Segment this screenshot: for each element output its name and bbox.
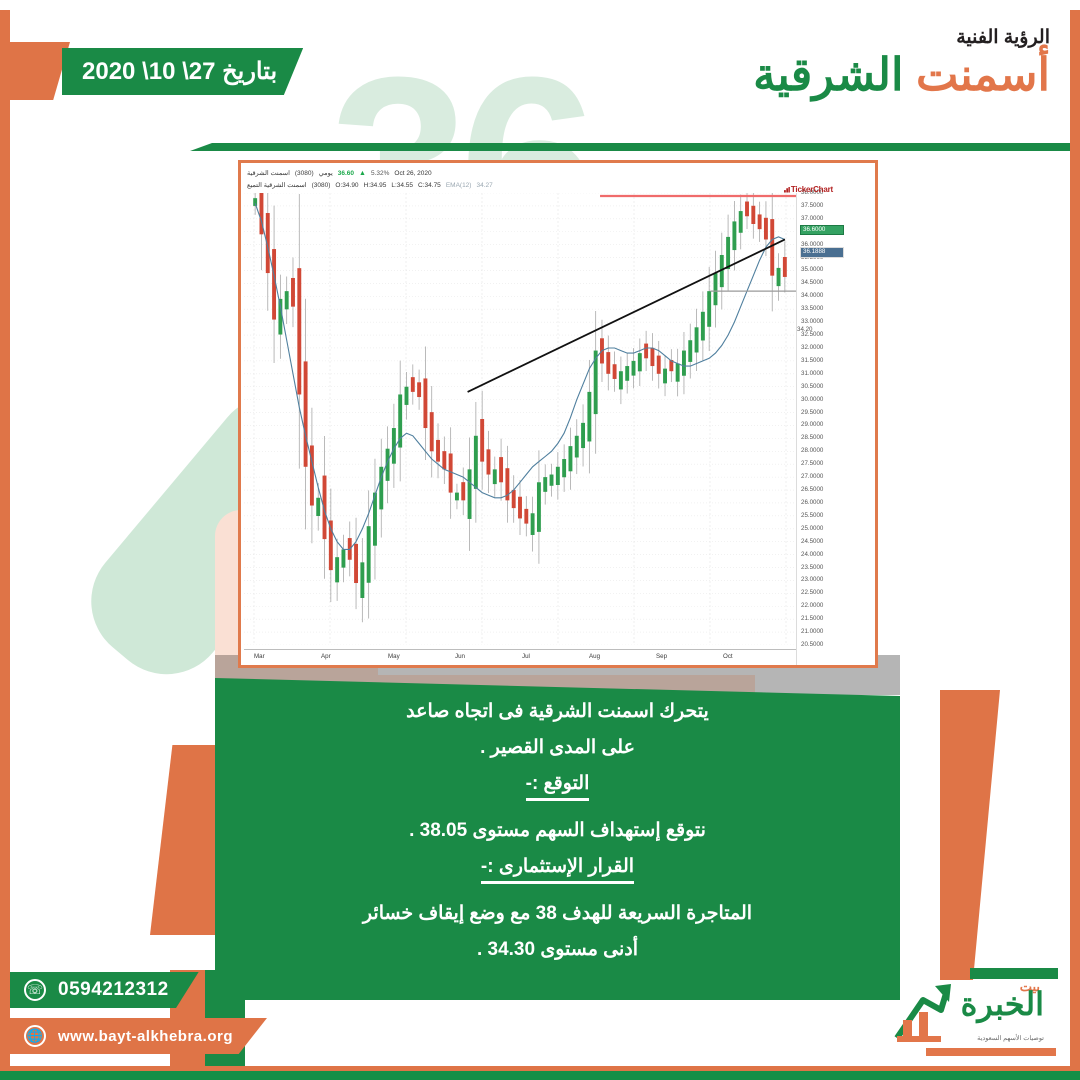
candle-body: [764, 218, 768, 240]
whatsapp-icon: ☏: [24, 979, 46, 1001]
y-axis-tick: 30.0000: [801, 397, 823, 403]
candle-body: [550, 475, 554, 486]
candle-body: [556, 467, 560, 485]
candle-body: [732, 221, 736, 250]
candle-body: [537, 482, 541, 532]
candle-body: [398, 394, 402, 447]
candle-body: [751, 206, 755, 224]
y-axis-tick: 26.5000: [801, 487, 823, 493]
x-axis-tick: Jun: [455, 653, 465, 660]
chart-ema-value: 34.27: [476, 182, 492, 189]
forecast-heading-wrap: التوقع :-: [261, 774, 854, 807]
chart-symbol-code: (3080): [295, 170, 314, 177]
y-axis-tick: 20.5000: [801, 642, 823, 648]
candle-body: [455, 493, 459, 501]
y-axis-tick: 33.0000: [801, 319, 823, 325]
candle-body: [625, 366, 629, 381]
y-axis-tick: 37.5000: [801, 203, 823, 209]
footer-website[interactable]: 🌐 www.bayt-alkhebra.org: [10, 1018, 267, 1054]
candle-body: [695, 327, 699, 352]
y-axis-tick: 34.5000: [801, 280, 823, 286]
candle-body: [758, 214, 762, 229]
candle-body: [707, 291, 711, 327]
y-axis-tick: 25.5000: [801, 513, 823, 519]
analysis-orange-wedge-right: [940, 690, 1000, 980]
chart-symbol-name-ar: اسمنت الشرقية: [247, 169, 290, 177]
analysis-panel: يتحرك اسمنت الشرقية فى اتجاه صاعد على ال…: [215, 678, 900, 1000]
y-axis-tick: 23.0000: [801, 577, 823, 583]
header-divider: [190, 143, 1070, 151]
header-kicker: الرؤية الفنية: [753, 28, 1050, 49]
chart-y-axis: 38.000037.500037.000036.500036.000035.50…: [796, 193, 872, 665]
tickerchart-logo: TickerChart: [784, 185, 833, 194]
y-axis-tick: 31.5000: [801, 358, 823, 364]
arrow-up-icon: ▲: [359, 170, 366, 177]
candle-body: [581, 423, 585, 448]
candle-body: [777, 268, 781, 286]
y-axis-tick: 27.5000: [801, 461, 823, 467]
chart-card: اسمنت الشرقية (3080) يومي 36.60 ▲ 5.32% …: [238, 160, 878, 668]
y-axis-tick: 28.0000: [801, 448, 823, 454]
candle-body: [518, 497, 522, 519]
x-axis-tick: Oct: [723, 653, 733, 660]
forecast-heading: التوقع :-: [526, 774, 590, 801]
page-title-part-orange: أسمنت: [916, 49, 1050, 100]
chart-header-line-1: اسمنت الشرقية (3080) يومي 36.60 ▲ 5.32% …: [247, 167, 869, 179]
candle-body: [468, 469, 472, 519]
chart-x-axis: MarAprMayJunJulAugSepOct: [244, 649, 796, 665]
chart-open-value: O:34.90: [335, 182, 358, 189]
candle-body: [613, 364, 617, 379]
candle-body: [606, 352, 610, 374]
candle-body: [638, 353, 642, 371]
chart-header-line-2: اسمنت الشرقية التميع (3080) O:34.90 H:34…: [247, 179, 869, 191]
brand-logo: بيت الخبرة توصيات الأسهم السعودية: [883, 966, 1058, 1058]
candle-body: [367, 526, 371, 583]
candle-body: [714, 273, 718, 305]
candle-body: [474, 436, 478, 489]
candle-body: [650, 348, 654, 366]
chart-header: اسمنت الشرقية (3080) يومي 36.60 ▲ 5.32% …: [241, 163, 875, 193]
y-axis-tick: 33.5000: [801, 306, 823, 312]
chart-interval-label: يومي: [319, 169, 333, 177]
date-badge-label: بتاريخ 27\ 10\ 2020: [82, 57, 277, 86]
x-axis-tick: May: [388, 653, 400, 660]
candle-body: [405, 387, 409, 405]
candle-body: [480, 419, 484, 462]
candle-body: [442, 451, 446, 469]
analysis-line-2: على المدى القصير .: [261, 738, 854, 757]
candle-body: [430, 412, 434, 451]
y-axis-tick: 31.0000: [801, 371, 823, 377]
date-badge: بتاريخ 27\ 10\ 2020: [62, 48, 303, 95]
candle-body: [285, 291, 289, 309]
y-axis-ema-badge: 36.1888: [800, 247, 844, 257]
candle-body: [739, 211, 743, 233]
globe-icon: 🌐: [24, 1025, 46, 1047]
header-title-group: الرؤية الفنية أسمنت الشرقية: [753, 28, 1050, 100]
candle-body: [531, 513, 535, 535]
candle-body: [644, 344, 648, 359]
y-axis-tick: 32.0000: [801, 345, 823, 351]
decision-line-1: المتاجرة السريعة للهدف 38 مع وضع إيقاف خ…: [261, 904, 854, 923]
chart-ema-label: EMA(12): [446, 182, 472, 189]
page-border-right: [1070, 0, 1080, 1080]
bar-chart-icon: [784, 187, 790, 193]
candle-body: [335, 557, 339, 582]
decision-heading-wrap: القرار الإستثمارى :-: [261, 857, 854, 890]
candle-body: [411, 377, 415, 392]
page-border-top: [0, 0, 1080, 10]
candle-body: [783, 257, 787, 277]
y-axis-tick: 27.0000: [801, 474, 823, 480]
chart-low-value: L:34.55: [391, 182, 413, 189]
forecast-text: نتوقع إستهداف السهم مستوى 38.05 .: [261, 821, 854, 840]
candle-body: [512, 490, 516, 508]
x-axis-tick: Sep: [656, 653, 667, 660]
chart-date: Oct 26, 2020: [394, 170, 431, 177]
decision-heading: القرار الإستثمارى :-: [481, 857, 634, 884]
chart-close-value: C:34.75: [418, 182, 441, 189]
page-title-part-green: الشرقية: [753, 49, 903, 100]
page-border-left: [0, 0, 10, 1080]
candle-body: [745, 202, 749, 217]
y-axis-tick: 29.5000: [801, 410, 823, 416]
candle-body: [461, 482, 465, 500]
brand-tagline: توصيات الأسهم السعودية: [977, 1034, 1044, 1042]
candle-body: [575, 436, 579, 458]
y-axis-tick: 37.0000: [801, 216, 823, 222]
y-axis-tick: 30.5000: [801, 384, 823, 390]
candle-body: [341, 549, 345, 567]
chart-high-value: H:34.95: [364, 182, 387, 189]
y-axis-tick: 21.5000: [801, 616, 823, 622]
candle-body: [543, 477, 547, 492]
candle-body: [676, 363, 680, 381]
page-border-bottom-green: [0, 1071, 1080, 1080]
candle-body: [354, 544, 358, 583]
candle-body: [682, 351, 686, 376]
y-axis-tick: 26.0000: [801, 500, 823, 506]
candle-body: [568, 446, 572, 471]
candle-body: [423, 378, 427, 428]
candle-body: [493, 469, 497, 484]
candle-body: [726, 237, 730, 269]
candle-body: [499, 457, 503, 482]
chart-ohlc-symbol-ar: اسمنت الشرقية التميع: [247, 181, 307, 189]
y-axis-tick: 35.0000: [801, 267, 823, 273]
chart-last-price: 36.60: [338, 170, 354, 177]
candle-body: [619, 371, 623, 389]
y-axis-tick: 29.0000: [801, 422, 823, 428]
brand-word-main: الخبرة: [961, 988, 1044, 1020]
chart-change-percent: 5.32%: [371, 170, 389, 177]
chart-plot-wrapper: 38.000037.500037.000036.500036.000035.50…: [241, 193, 875, 665]
y-axis-tick: 22.5000: [801, 590, 823, 596]
y-axis-tick: 22.0000: [801, 603, 823, 609]
tickerchart-logo-label: TickerChart: [791, 185, 833, 194]
candle-body: [587, 392, 591, 442]
chart-ohlc-code: (3080): [312, 182, 331, 189]
candle-body: [436, 440, 440, 462]
y-axis-last-price-badge: 36.6000: [800, 225, 844, 235]
growth-arrow-icon: [889, 976, 959, 1046]
candle-body: [657, 356, 661, 374]
candle-body: [688, 340, 692, 362]
y-axis-tick: 28.5000: [801, 435, 823, 441]
candle-body: [663, 369, 667, 384]
chart-gridlines: [244, 193, 796, 645]
x-axis-tick: Mar: [254, 653, 265, 660]
candle-body: [297, 268, 301, 394]
x-axis-tick: Jul: [522, 653, 530, 660]
decision-line-2: أدنى مستوى 34.30 .: [261, 940, 854, 959]
y-axis-tick: 24.5000: [801, 539, 823, 545]
y-axis-tick: 34.0000: [801, 293, 823, 299]
header-orange-tab: [10, 42, 70, 100]
brand-orange-bar: [926, 1048, 1056, 1056]
candle-body: [701, 312, 705, 341]
candle-body: [360, 562, 364, 598]
candle-body: [770, 219, 774, 276]
candle-body: [304, 361, 308, 466]
x-axis-tick: Aug: [589, 653, 600, 660]
brand-green-bar: [970, 968, 1058, 979]
whatsapp-number: 0594212312: [58, 979, 169, 1001]
candle-body: [632, 361, 636, 376]
candle-body: [487, 449, 491, 474]
analysis-line-1: يتحرك اسمنت الشرقية فى اتجاه صاعد: [261, 702, 854, 721]
page-title: أسمنت الشرقية: [753, 50, 1050, 100]
y-axis-tick: 23.5000: [801, 565, 823, 571]
candle-body: [316, 498, 320, 516]
chart-plot-area[interactable]: [244, 193, 796, 645]
x-axis-tick: Apr: [321, 653, 331, 660]
y-axis-tick: 25.0000: [801, 526, 823, 532]
candle-body: [562, 459, 566, 477]
candle-body: [417, 382, 421, 397]
y-axis-tick: 24.0000: [801, 552, 823, 558]
y-axis-tick: 21.0000: [801, 629, 823, 635]
candle-body: [524, 509, 528, 524]
chart-support-label: 34.20: [797, 326, 812, 333]
footer-whatsapp[interactable]: ☏ 0594212312: [10, 972, 199, 1008]
website-url: www.bayt-alkhebra.org: [58, 1028, 233, 1045]
candle-body: [291, 278, 295, 307]
